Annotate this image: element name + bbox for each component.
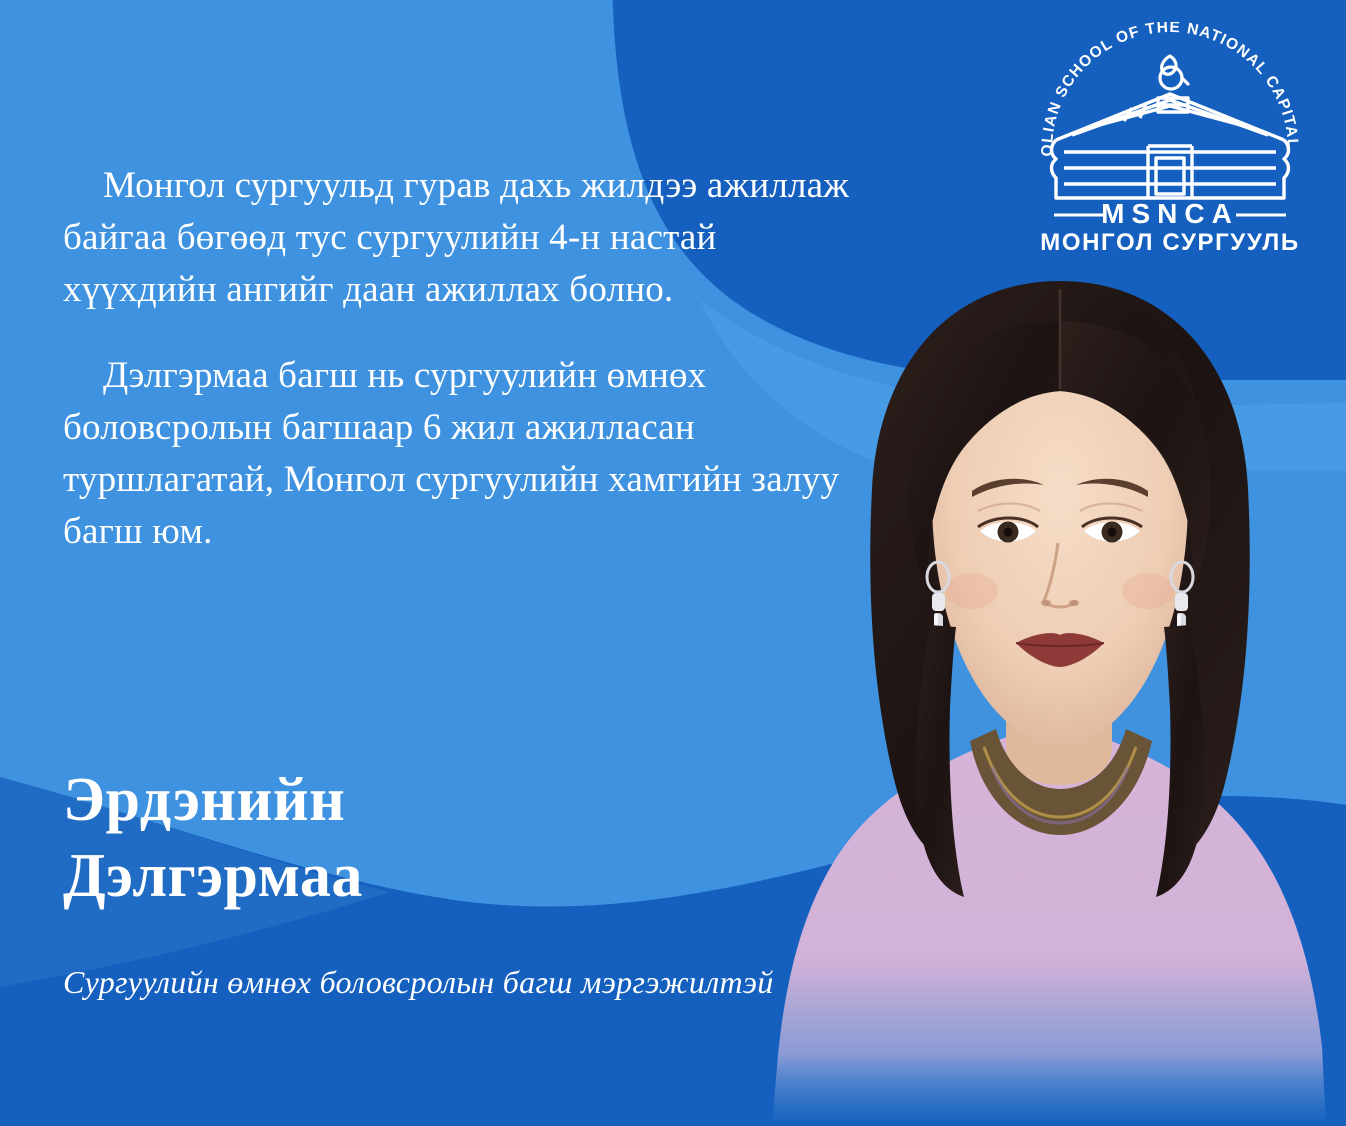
msnca-logo: THE MONGOLIAN SCHOOL OF THE NATIONAL CAP… <box>1020 22 1320 252</box>
portrait-photo <box>760 255 1346 1126</box>
ger-yurt-icon <box>1052 94 1289 198</box>
cheek-right <box>1122 573 1174 609</box>
nostril-right <box>1069 600 1079 606</box>
paragraph-2: Дэлгэрмаа багш нь сургуулийн өмнөх болов… <box>63 350 863 558</box>
logo-name-mn: МОНГОЛ СУРГУУЛЬ <box>1040 229 1299 252</box>
person-role: Сургуулийн өмнөх боловсролын багш мэргэж… <box>63 961 823 1003</box>
person-name-line-1: Эрдэнийн <box>63 762 823 838</box>
person-identity-block: Эрдэнийн Дэлгэрмаа Сургуулийн өмнөх боло… <box>63 762 823 1003</box>
paragraph-1: Монгол сургуульд гурав дахь жилдээ ажилл… <box>63 160 863 316</box>
body-copy: Монгол сургуульд гурав дахь жилдээ ажилл… <box>63 160 863 592</box>
poster-canvas: Монгол сургуульд гурав дахь жилдээ ажилл… <box>0 0 1346 1126</box>
logo-acronym: MSNCA <box>1101 198 1239 229</box>
cheek-left <box>946 573 998 609</box>
ger-finial-icon <box>1160 56 1188 89</box>
nostril-left <box>1041 600 1051 606</box>
garment-shoulders <box>772 725 1326 1126</box>
person-name-line-2: Дэлгэрмаа <box>63 838 823 914</box>
